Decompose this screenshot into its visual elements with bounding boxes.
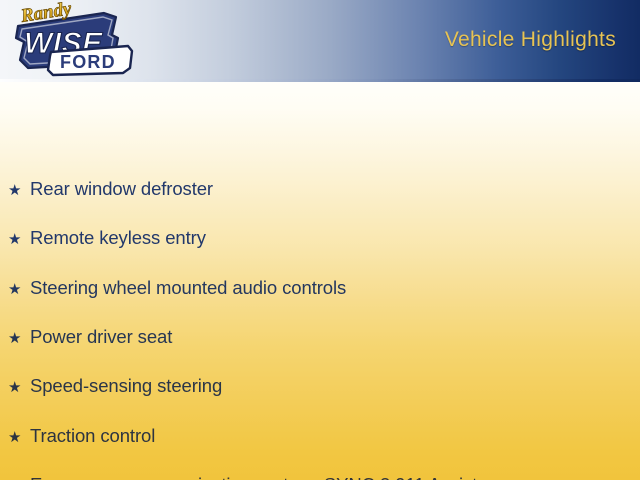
list-item: ★ Power driver seat (8, 328, 172, 347)
star-icon: ★ (8, 183, 30, 198)
page-title: Vehicle Highlights (445, 28, 616, 52)
list-item-label: Emergency communication system: SYNC 3 9… (30, 476, 477, 480)
list-item: ★ Speed-sensing steering (8, 377, 222, 396)
list-item: ★ Remote keyless entry (8, 229, 206, 248)
list-item: ★ Traction control (8, 427, 155, 446)
star-icon: ★ (8, 430, 30, 445)
vehicle-highlights-slide: WISE Randy FORD Vehicle Highlights ★ Rea… (0, 0, 640, 480)
randy-wise-ford-logo[interactable]: WISE Randy FORD (4, 2, 136, 78)
list-item: ★ Rear window defroster (8, 180, 213, 199)
star-icon: ★ (8, 282, 30, 297)
logo-ford-text: FORD (60, 52, 116, 72)
star-icon: ★ (8, 331, 30, 346)
list-item: ★ Steering wheel mounted audio controls (8, 279, 346, 298)
list-item-label: Rear window defroster (30, 180, 213, 199)
list-item-label: Remote keyless entry (30, 229, 206, 248)
star-icon: ★ (8, 232, 30, 247)
header-banner: WISE Randy FORD Vehicle Highlights (0, 0, 640, 82)
highlights-content: ★ Rear window defroster ★ Remote keyless… (0, 82, 640, 480)
star-icon: ★ (8, 380, 30, 395)
list-item-label: Steering wheel mounted audio controls (30, 279, 346, 298)
list-item-label: Speed-sensing steering (30, 377, 222, 396)
list-item-label: Traction control (30, 427, 155, 446)
list-item: ★ Emergency communication system: SYNC 3… (8, 476, 477, 480)
list-item-label: Power driver seat (30, 328, 172, 347)
